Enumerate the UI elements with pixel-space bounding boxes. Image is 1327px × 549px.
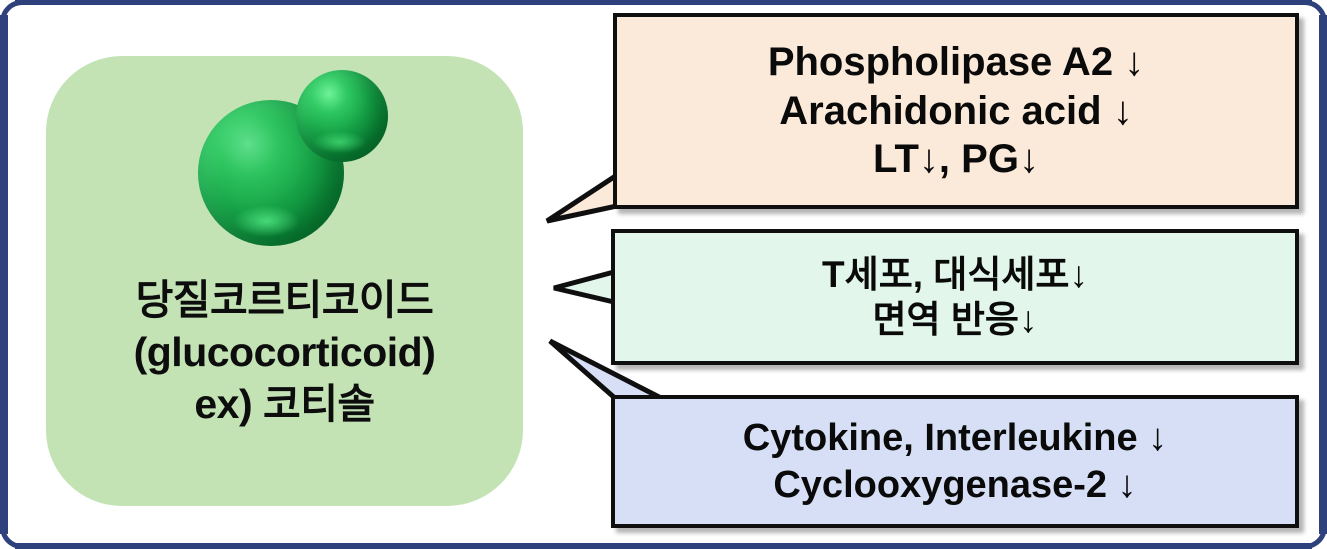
callout-cytokines: Cytokine, Interleukine ↓ Cyclooxygenase-… [611,395,1299,528]
callout-2-tail [554,272,614,302]
page-corner-mask-bottom-right [1312,534,1327,549]
callout-1-line-2: Arachidonic acid ↓ [631,87,1281,136]
callout-anti-inflammatory-mediators: Phospholipase A2 ↓ Arachidonic acid ↓ LT… [613,13,1299,209]
glucocorticoid-panel: 당질코르티코이드 (glucocorticoid) ex) 코티솔 [46,56,523,506]
page-border-bottom [0,543,1327,549]
page-border-left [0,0,8,549]
page-corner-bottom-left [0,510,39,549]
callout-1-line-3: LT↓, PG↓ [631,135,1281,184]
slide-canvas: 당질코르티코이드 (glucocorticoid) ex) 코티솔 Phosph… [0,0,1327,549]
page-corner-mask-top-right [1312,0,1327,15]
callout-3-line-2: Cyclooxygenase-2 ↓ [629,462,1281,508]
callout-2-line-2: 면역 반응↓ [629,297,1281,342]
caption-line-english-name: (glucocorticoid) [46,326,523,378]
callout-1-line-1: Phospholipase A2 ↓ [631,38,1281,87]
page-corner-top-left [0,0,39,39]
page-corner-mask-bottom-left [0,534,15,549]
page-corner-mask-top-left [0,0,15,15]
caption-line-korean-name: 당질코르티코이드 [46,274,523,326]
page-border-top [0,0,1327,5]
callout-2-text: T세포, 대식세포↓ 면역 반응↓ [615,252,1295,342]
callout-immune-cells: T세포, 대식세포↓ 면역 반응↓ [611,229,1299,365]
callout-2-line-1: T세포, 대식세포↓ [629,252,1281,297]
page-border-right [1319,0,1327,549]
green-molecule-icon [166,66,456,266]
callout-1-text: Phospholipase A2 ↓ Arachidonic acid ↓ LT… [617,38,1295,184]
glucocorticoid-caption: 당질코르티코이드 (glucocorticoid) ex) 코티솔 [46,274,523,430]
callout-3-text: Cytokine, Interleukine ↓ Cyclooxygenase-… [615,415,1295,508]
caption-line-example: ex) 코티솔 [46,378,523,430]
molecule-sphere-small [296,70,388,162]
callout-3-line-1: Cytokine, Interleukine ↓ [629,415,1281,461]
callout-1-tail [547,175,617,221]
